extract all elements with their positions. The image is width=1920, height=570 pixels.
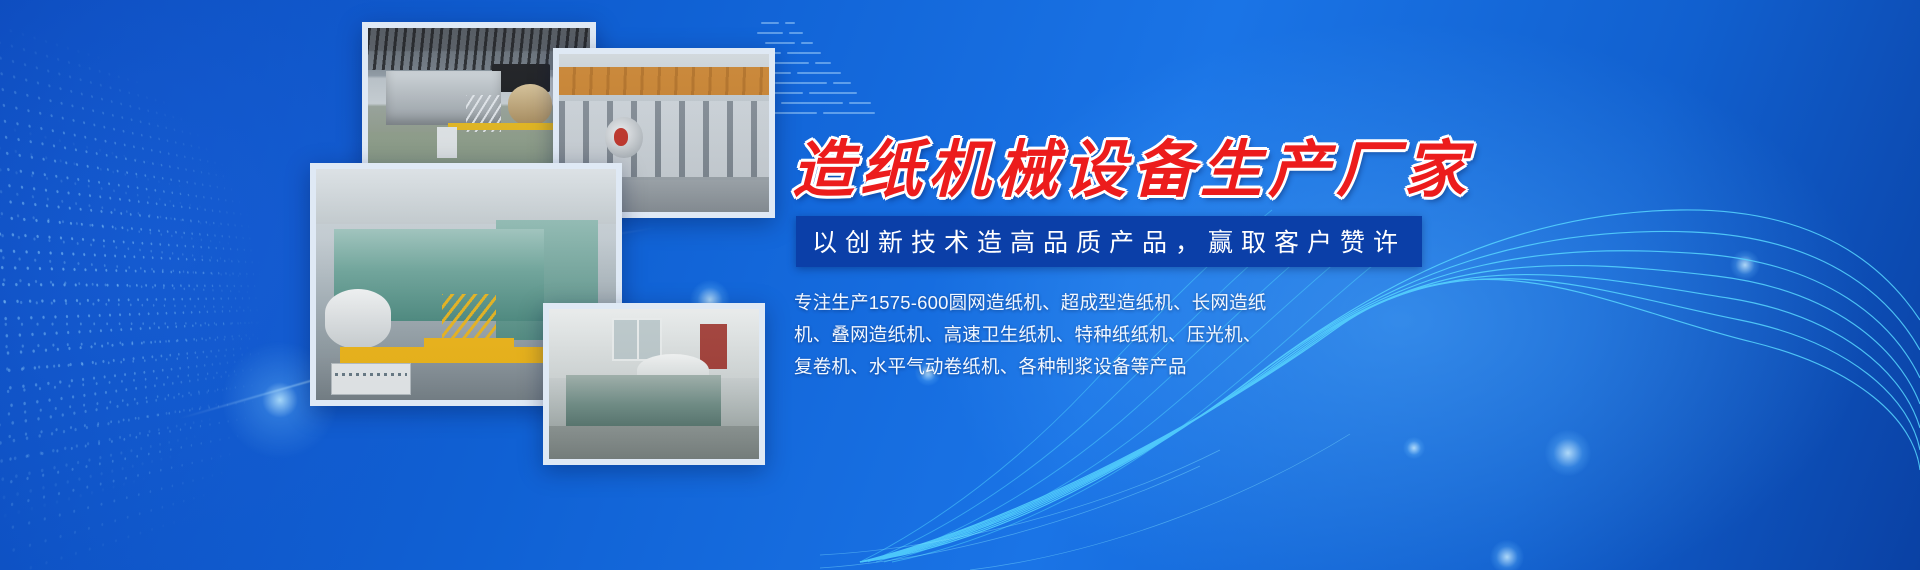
banner-subtitle-bar: 以创新技术造高品质产品，赢取客户赞许 (796, 216, 1422, 267)
promo-banner: 造纸机械设备生产厂家 以创新技术造高品质产品，赢取客户赞许 专注生产1575-6… (0, 0, 1920, 570)
banner-description: 专注生产1575-600圆网造纸机、超成型造纸机、长网造纸机、叠网造纸机、高速卫… (794, 287, 1276, 382)
banner-headline: 造纸机械设备生产厂家 (792, 140, 1846, 202)
banner-text-block: 造纸机械设备生产厂家 以创新技术造高品质产品，赢取客户赞许 专注生产1575-6… (786, 140, 1846, 382)
photo-workshop-rewinder (543, 303, 765, 465)
